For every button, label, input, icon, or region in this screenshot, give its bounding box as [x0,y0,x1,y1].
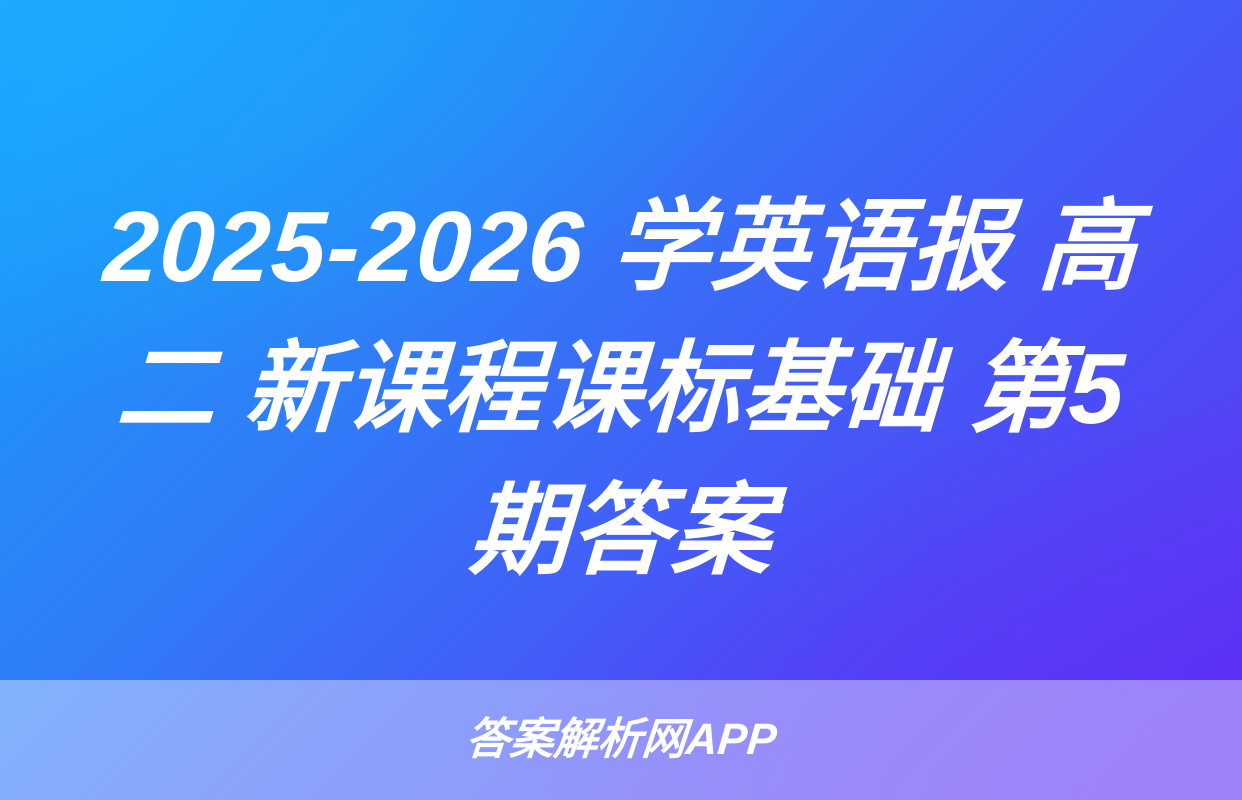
page-title: 2025-2026 学英语报 高 二 新课程课标基础 第5 期答案 [0,176,1242,602]
title-line-1: 2025-2026 学英语报 高 [57,176,1185,318]
title-line-2: 二 新课程课标基础 第5 [57,318,1185,460]
answer-poster: 2025-2026 学英语报 高 二 新课程课标基础 第5 期答案 答案解析网A… [0,0,1242,800]
app-brand-label: 答案解析网APP [464,718,778,762]
footer-brand-band: 答案解析网APP [0,680,1242,800]
title-line-3: 期答案 [48,460,1193,602]
